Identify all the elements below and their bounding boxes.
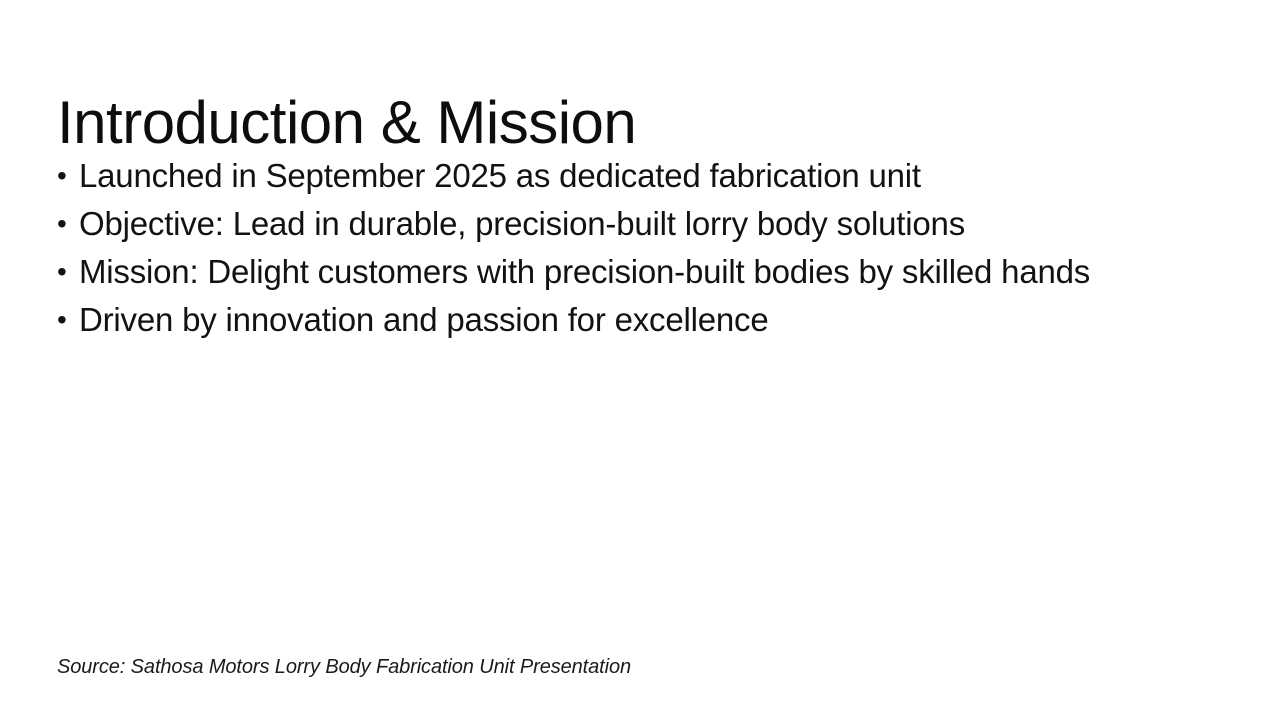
list-item: • Objective: Lead in durable, precision-…: [57, 200, 1237, 248]
bullet-point-icon: •: [57, 296, 79, 344]
presentation-slide: Introduction & Mission • Launched in Sep…: [0, 0, 1280, 720]
bullet-point-icon: •: [57, 152, 79, 200]
list-item: • Driven by innovation and passion for e…: [57, 296, 1237, 344]
page-title: Introduction & Mission: [57, 86, 636, 160]
bullet-list: • Launched in September 2025 as dedicate…: [57, 152, 1237, 344]
bullet-point-icon: •: [57, 248, 79, 296]
list-item-label: Launched in September 2025 as dedicated …: [79, 152, 921, 200]
list-item: • Mission: Delight customers with precis…: [57, 248, 1237, 296]
list-item-label: Objective: Lead in durable, precision-bu…: [79, 200, 965, 248]
list-item-label: Driven by innovation and passion for exc…: [79, 296, 769, 344]
bullet-point-icon: •: [57, 200, 79, 248]
list-item-label: Mission: Delight customers with precisio…: [79, 248, 1090, 296]
list-item: • Launched in September 2025 as dedicate…: [57, 152, 1237, 200]
source-attribution: Source: Sathosa Motors Lorry Body Fabric…: [57, 656, 631, 679]
